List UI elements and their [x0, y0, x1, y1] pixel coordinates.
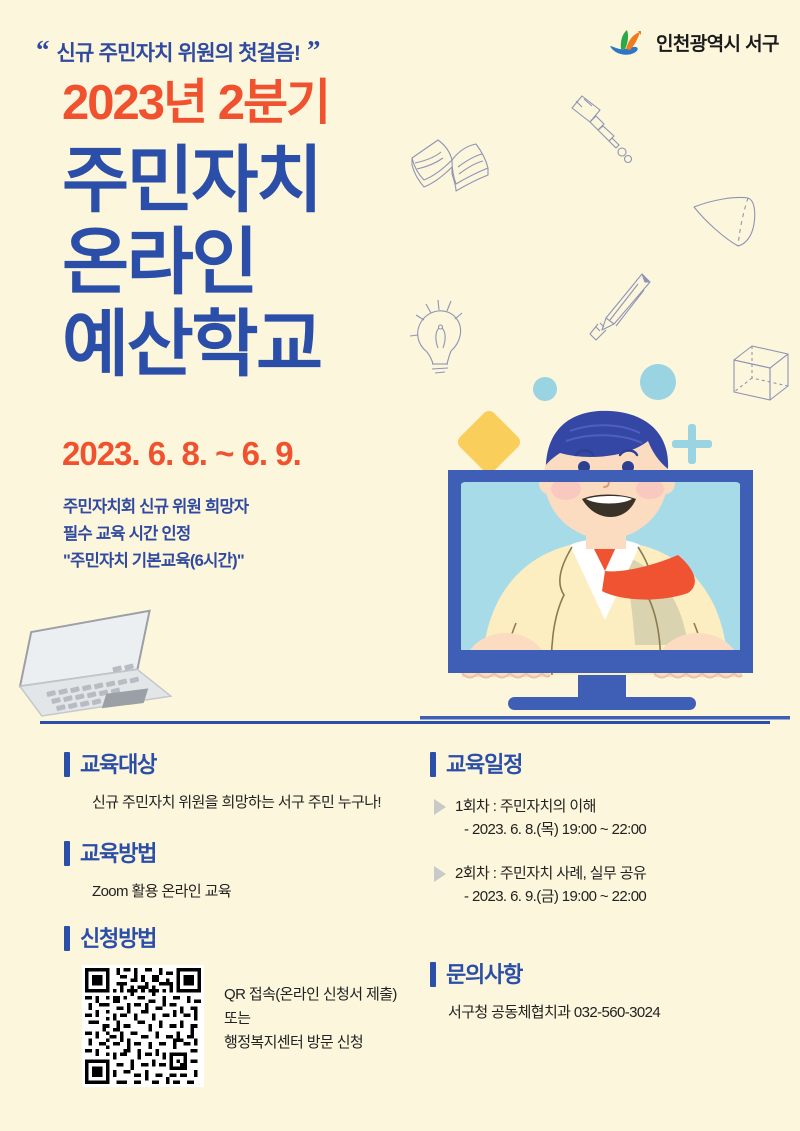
section-contact: 문의사항 — [430, 962, 780, 987]
seogu-emblem-icon — [608, 26, 648, 58]
schedule-item-text: 1회차 : 주민자치의 이해 - 2023. 6. 8.(목) 19:00 ~ … — [455, 795, 646, 842]
schedule-session-1: 1회차 : 주민자치의 이해 — [455, 795, 646, 818]
triangle-bullet-icon — [434, 866, 446, 882]
section-bar-icon — [64, 926, 70, 951]
telescope-doodle — [570, 88, 646, 168]
section-schedule: 교육일정 — [430, 752, 780, 777]
section-bar-icon — [430, 752, 436, 777]
section-bar-icon — [64, 752, 70, 777]
qr-code-image — [85, 968, 201, 1084]
quote-open-mark: “ — [36, 38, 50, 62]
apply-caption-line-1: QR 접속(온라인 신청서 제출) — [224, 983, 397, 1007]
laptop-illustration — [12, 608, 192, 728]
apply-caption-line-2: 또는 — [224, 1007, 397, 1031]
poster-canvas: 인천광역시 서구 “ 신규 주민자치 위원의 첫걸음! ” 2023년 2분기 … — [0, 0, 800, 1131]
schedule-item-text: 2회차 : 주민자치 사례, 실무 공유 - 2023. 6. 9.(금) 19… — [455, 862, 646, 909]
open-book-doodle — [408, 130, 494, 200]
right-info-column: 교육일정 1회차 : 주민자치의 이해 - 2023. 6. 8.(목) 19:… — [430, 752, 780, 1025]
left-info-column: 교육대상 신규 주민자치 위원을 희망하는 서구 주민 누구나! 교육방법 Zo… — [64, 752, 414, 1087]
qr-code[interactable] — [82, 965, 204, 1087]
hero-year-line: 2023년 2분기 — [62, 78, 329, 129]
schedule-detail-1: - 2023. 6. 8.(목) 19:00 ~ 22:00 — [455, 818, 646, 841]
section-divider — [40, 721, 770, 724]
organization-logo: 인천광역시 서구 — [608, 26, 779, 58]
section-contact-title: 문의사항 — [446, 964, 522, 986]
hero-title-line-3: 예산학교 — [62, 304, 321, 386]
hero-date-range: 2023. 6. 8. ~ 6. 9. — [62, 435, 301, 473]
schedule-list: 1회차 : 주민자치의 이해 - 2023. 6. 8.(목) 19:00 ~ … — [430, 795, 780, 908]
section-target-body: 신규 주민자치 위원을 희망하는 서구 주민 누구나! — [64, 791, 414, 815]
section-method-body: Zoom 활용 온라인 교육 — [64, 880, 414, 904]
organization-name: 인천광역시 서구 — [656, 29, 779, 56]
section-schedule-title: 교육일정 — [446, 754, 522, 776]
hero-quote: “ 신규 주민자치 위원의 첫걸음! ” — [36, 38, 321, 65]
apply-qr-row: QR 접속(온라인 신청서 제출) 또는 행정복지센터 방문 신청 — [64, 965, 414, 1087]
hero-subtext-line-2: 필수 교육 시간 인정 — [63, 521, 248, 548]
apply-caption-line-3: 행정복지센터 방문 신청 — [224, 1031, 397, 1055]
schedule-detail-2: - 2023. 6. 9.(금) 19:00 ~ 22:00 — [455, 885, 646, 908]
apply-caption: QR 접속(온라인 신청서 제출) 또는 행정복지센터 방문 신청 — [224, 965, 397, 1055]
section-method: 교육방법 — [64, 841, 414, 866]
section-target-title: 교육대상 — [80, 754, 156, 776]
hero-title-line-2: 온라인 — [62, 222, 321, 304]
hero-subtext-line-1: 주민자치회 신규 위원 희망자 — [63, 494, 248, 521]
triangle-bullet-icon — [434, 799, 446, 815]
hero-subtext-line-3: "주민자치 기본교육(6시간)" — [63, 548, 248, 575]
section-apply-title: 신청방법 — [80, 928, 156, 950]
section-apply: 신청방법 — [64, 926, 414, 951]
hero-title: 주민자치 온라인 예산학교 — [62, 140, 321, 385]
cube-doodle — [732, 344, 790, 402]
section-method-title: 교육방법 — [80, 843, 156, 865]
pencil-doodle — [588, 272, 654, 342]
man-in-monitor-illustration — [420, 395, 790, 725]
hero-subtext: 주민자치회 신규 위원 희망자 필수 교육 시간 인정 "주민자치 기본교육(6… — [63, 494, 248, 576]
section-contact-body: 서구청 공동체협치과 032-560-3024 — [430, 1001, 780, 1025]
quote-text: 신규 주민자치 위원의 첫걸음! — [57, 38, 301, 65]
quote-close-mark: ” — [307, 38, 321, 62]
section-target: 교육대상 — [64, 752, 414, 777]
schedule-session-2: 2회차 : 주민자치 사례, 실무 공유 — [455, 862, 646, 885]
cone-doodle — [692, 196, 760, 252]
schedule-item: 2회차 : 주민자치 사례, 실무 공유 - 2023. 6. 9.(금) 19… — [434, 862, 780, 909]
lightbulb-doodle — [405, 294, 475, 376]
hero-title-line-1: 주민자치 — [62, 140, 321, 222]
schedule-item: 1회차 : 주민자치의 이해 - 2023. 6. 8.(목) 19:00 ~ … — [434, 795, 780, 842]
section-bar-icon — [430, 962, 436, 987]
section-bar-icon — [64, 841, 70, 866]
